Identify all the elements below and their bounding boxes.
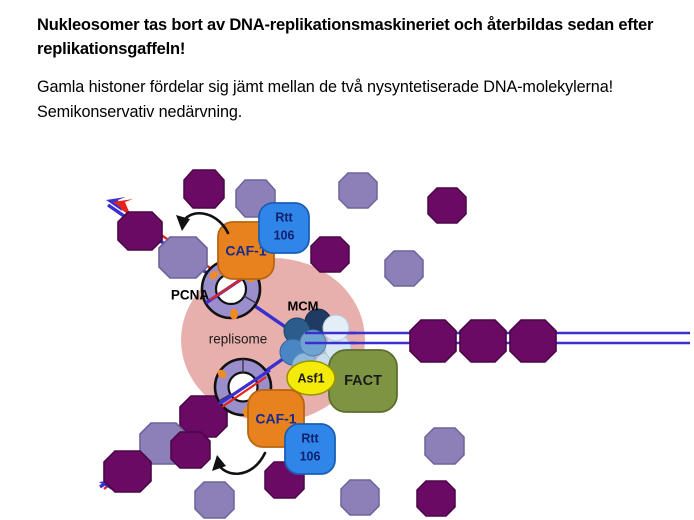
- nucleosome-new: [341, 480, 379, 515]
- fact-complex[interactable]: FACT: [329, 350, 397, 412]
- asf1-label: Asf1: [297, 371, 324, 385]
- slide-canvas: Nukleosomer tas bort av DNA-replikations…: [0, 0, 694, 520]
- nucleosome-new: [195, 482, 234, 518]
- rtt106-upper-label-line1: Rtt: [275, 210, 293, 224]
- rtt106-upper-label-line2: 106: [274, 228, 295, 242]
- nucleosome-new: [425, 428, 464, 464]
- nucleosome-new: [159, 237, 207, 278]
- fact-label: FACT: [344, 373, 382, 389]
- nucleosome-old: [311, 237, 349, 272]
- asf1-complex[interactable]: Asf1: [287, 361, 335, 395]
- nucleosome-chain-upper: [118, 212, 207, 278]
- nucleosome-old: [460, 320, 506, 362]
- rtt106-lower-label-line2: 106: [300, 449, 321, 463]
- deposition-arrow-lower: [217, 453, 265, 474]
- rtt106-complex-lower[interactable]: Rtt 106: [285, 424, 335, 474]
- nucleosome-old: [118, 212, 162, 250]
- nucleosome-old: [184, 170, 224, 208]
- rtt106-lower-label-line1: Rtt: [301, 431, 319, 445]
- nucleosome-old: [104, 451, 151, 492]
- pcna-label: PCNA: [171, 288, 210, 303]
- nucleosome-chain-right: [410, 320, 556, 362]
- mcm-label: MCM: [287, 298, 318, 313]
- nucleosome-old: [417, 481, 455, 516]
- replisome-label: replisome: [209, 332, 268, 347]
- caf1-lower-label: CAF-1: [255, 411, 296, 427]
- replication-nucleosome-diagram: FACT Asf1 CAF-1 Rtt 106 CAF-1: [0, 0, 694, 520]
- nucleosome-old: [510, 320, 556, 362]
- nucleosome-old: [428, 188, 466, 223]
- rtt106-complex-upper[interactable]: Rtt 106: [259, 203, 309, 253]
- nucleosome-new: [339, 173, 377, 208]
- nucleosome-old: [171, 432, 210, 468]
- nucleosome-new: [385, 251, 423, 286]
- nucleosome-old: [410, 320, 456, 362]
- mcm-subunit: [323, 315, 349, 341]
